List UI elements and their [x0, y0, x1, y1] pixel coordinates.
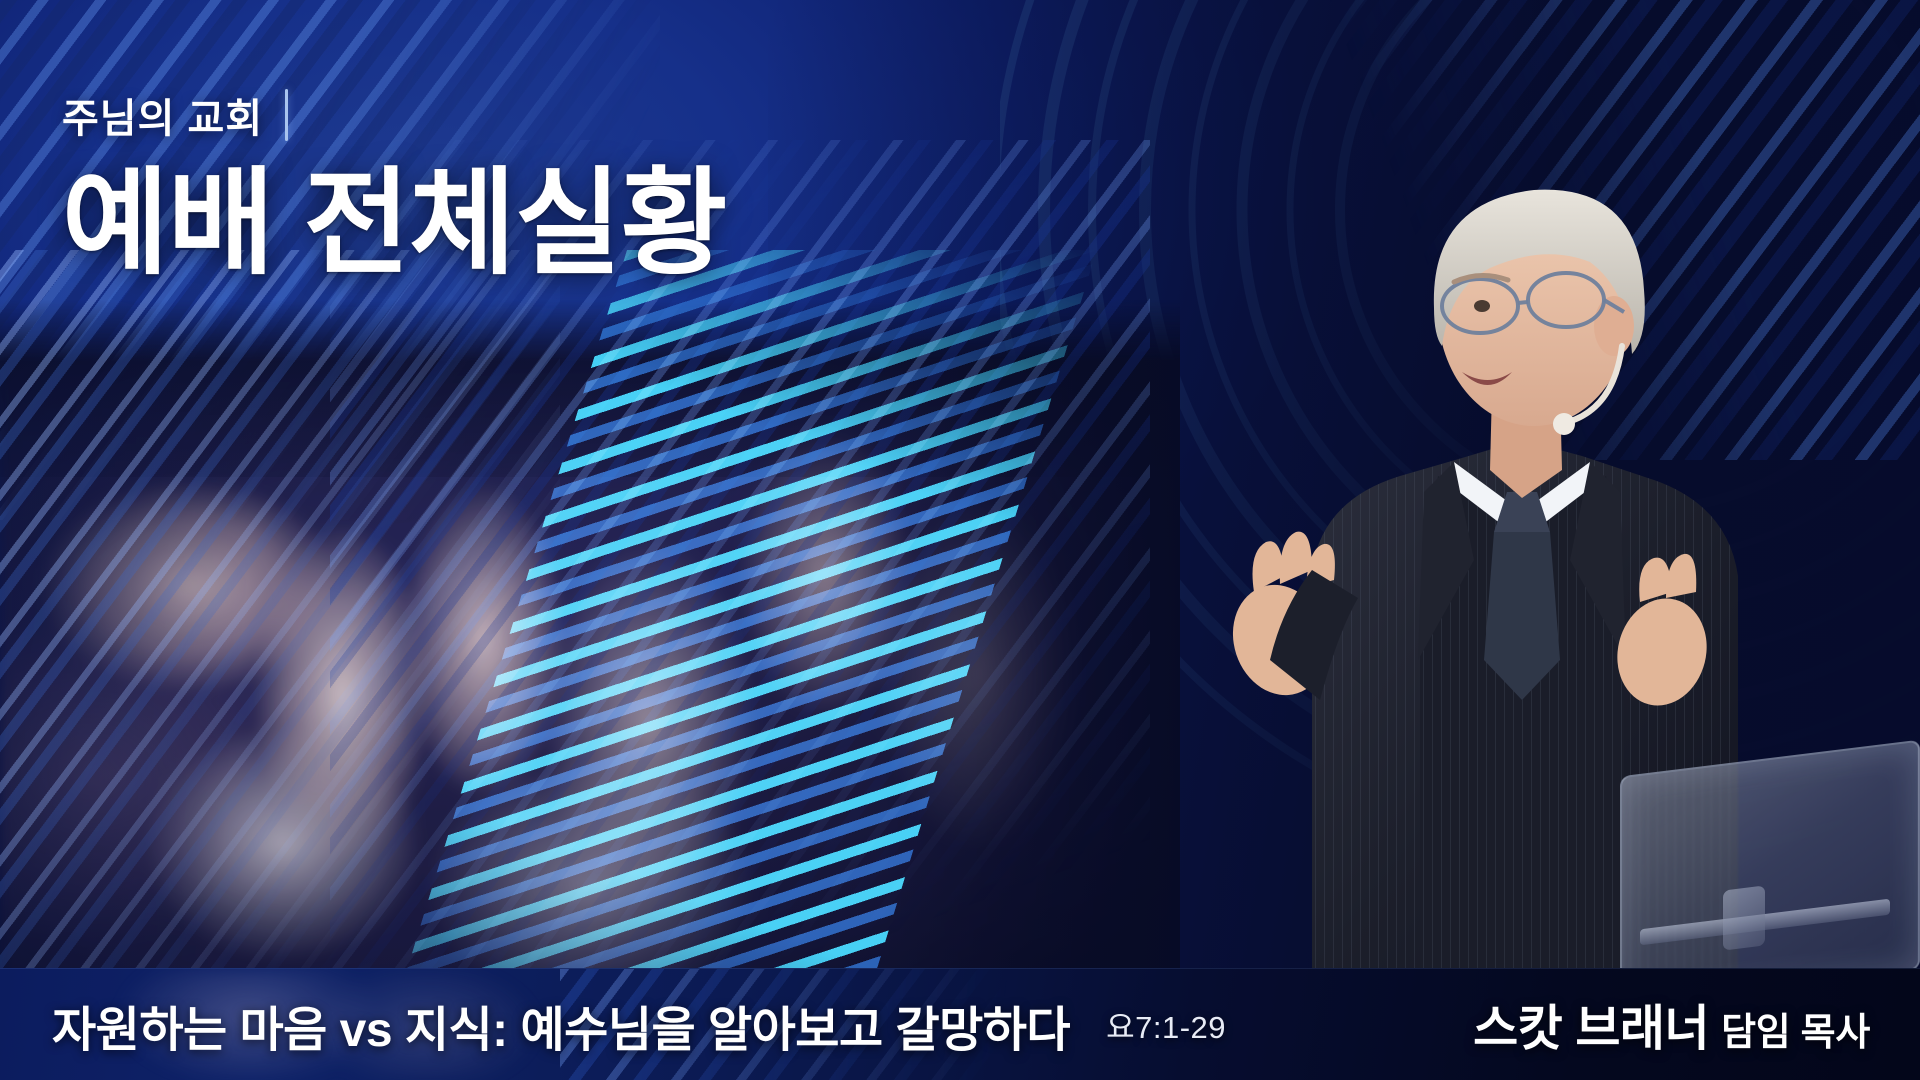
page-title-part1: 예배 — [62, 158, 273, 288]
broadcast-lower-third-graphic: 주님의 교회 예배전체실황 자원하는 마음 vs 지식: 예수님을 알아보고 갈… — [0, 0, 1920, 1080]
photo-right-fade — [880, 300, 1180, 980]
speaker-name: 스캇 브래너 — [1473, 989, 1709, 1060]
vertical-divider-bar-icon — [285, 89, 288, 141]
speaker-role: 담임 목사 — [1721, 1001, 1870, 1056]
podium-knob — [1723, 885, 1765, 950]
brand-row: 주님의 교회 — [62, 86, 1062, 144]
church-name: 주님의 교회 — [62, 86, 263, 144]
page-title: 예배전체실황 — [62, 162, 1062, 285]
caption-content: 자원하는 마음 vs 지식: 예수님을 알아보고 갈망하다 요7:1-29 스캇… — [0, 969, 1920, 1080]
lower-third-caption-bar: 자원하는 마음 vs 지식: 예수님을 알아보고 갈망하다 요7:1-29 스캇… — [0, 968, 1920, 1080]
sermon-title: 자원하는 마음 vs 지식: 예수님을 알아보고 갈망하다 — [52, 990, 1070, 1060]
title-block: 주님의 교회 예배전체실황 — [62, 86, 1062, 285]
scripture-reference: 요7:1-29 — [1106, 1002, 1226, 1047]
acrylic-podium — [1620, 740, 1920, 1007]
congregation-photo — [0, 300, 1180, 980]
speaker-block: 스캇 브래너 담임 목사 — [1473, 989, 1870, 1060]
page-title-part2: 전체실황 — [303, 158, 726, 288]
